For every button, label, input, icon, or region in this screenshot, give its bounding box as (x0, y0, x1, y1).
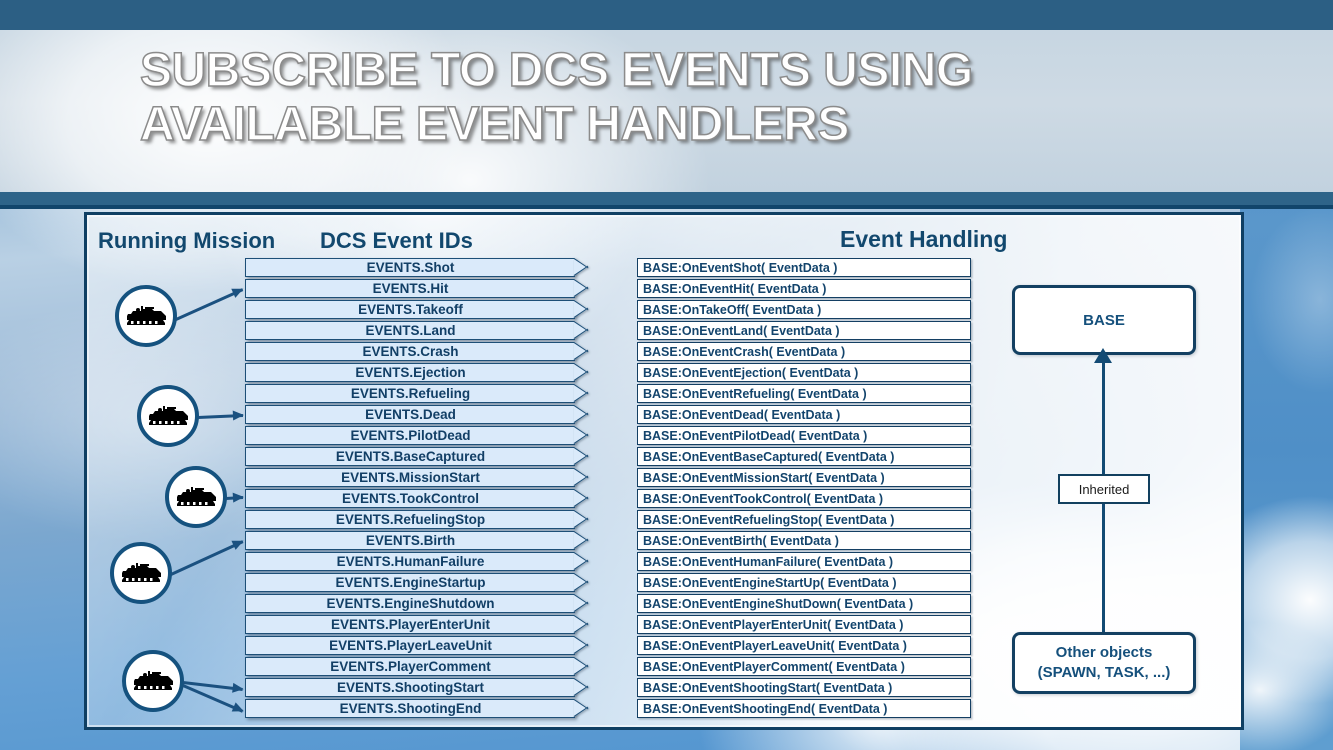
event-id-row[interactable]: EVENTS.EngineStartup (245, 573, 575, 594)
event-id-label: EVENTS.PilotDead (245, 426, 575, 445)
event-id-row[interactable]: EVENTS.Refueling (245, 384, 575, 405)
event-handler-label: BASE:OnEventPilotDead( EventData ) (637, 426, 971, 445)
event-id-label: EVENTS.HumanFailure (245, 552, 575, 571)
chevron-arrow-icon (574, 384, 588, 402)
chevron-arrow-icon (574, 447, 588, 465)
tank-icon-1[interactable] (115, 285, 177, 347)
event-handler-row[interactable]: BASE:OnEventPlayerEnterUnit( EventData ) (637, 615, 971, 636)
event-handler-label: BASE:OnEventHumanFailure( EventData ) (637, 552, 971, 571)
event-id-row[interactable]: EVENTS.ShootingStart (245, 678, 575, 699)
event-id-label: EVENTS.Hit (245, 279, 575, 298)
chevron-arrow-icon (574, 489, 588, 507)
event-handler-row[interactable]: BASE:OnEventMissionStart( EventData ) (637, 468, 971, 489)
event-handler-row[interactable]: BASE:OnEventPlayerComment( EventData ) (637, 657, 971, 678)
event-id-row[interactable]: EVENTS.PlayerLeaveUnit (245, 636, 575, 657)
event-handler-row[interactable]: BASE:OnEventShootingStart( EventData ) (637, 678, 971, 699)
event-id-label: EVENTS.Refueling (245, 384, 575, 403)
event-handler-label: BASE:OnEventPlayerEnterUnit( EventData ) (637, 615, 971, 634)
event-id-row[interactable]: EVENTS.PlayerEnterUnit (245, 615, 575, 636)
event-handler-row[interactable]: BASE:OnEventPlayerLeaveUnit( EventData ) (637, 636, 971, 657)
event-id-label: EVENTS.Birth (245, 531, 575, 550)
event-handler-row[interactable]: BASE:OnEventShootingEnd( EventData ) (637, 699, 971, 720)
chevron-arrow-icon (574, 279, 588, 297)
event-id-row[interactable]: EVENTS.Crash (245, 342, 575, 363)
event-handler-row[interactable]: BASE:OnEventBaseCaptured( EventData ) (637, 447, 971, 468)
event-id-row[interactable]: EVENTS.Birth (245, 531, 575, 552)
event-id-label: EVENTS.MissionStart (245, 468, 575, 487)
event-id-row[interactable]: EVENTS.MissionStart (245, 468, 575, 489)
event-id-list: EVENTS.ShotEVENTS.HitEVENTS.TakeoffEVENT… (245, 258, 575, 720)
chevron-arrow-icon (574, 342, 588, 360)
chevron-arrow-icon (574, 510, 588, 528)
event-id-row[interactable]: EVENTS.EngineShutdown (245, 594, 575, 615)
event-handler-row[interactable]: BASE:OnEventTookControl( EventData ) (637, 489, 971, 510)
chevron-arrow-icon (574, 573, 588, 591)
event-handler-label: BASE:OnTakeOff( EventData ) (637, 300, 971, 319)
tank-icon-3[interactable] (165, 466, 227, 528)
event-handler-row[interactable]: BASE:OnEventCrash( EventData ) (637, 342, 971, 363)
other-objects-line2: (SPAWN, TASK, ...) (1038, 663, 1171, 683)
event-id-label: EVENTS.ShootingStart (245, 678, 575, 697)
inherited-label: Inherited (1058, 474, 1150, 504)
event-id-label: EVENTS.Shot (245, 258, 575, 277)
base-class-label: BASE (1083, 312, 1125, 329)
event-handler-row[interactable]: BASE:OnEventHit( EventData ) (637, 279, 971, 300)
event-handler-label: BASE:OnEventEjection( EventData ) (637, 363, 971, 382)
event-id-row[interactable]: EVENTS.RefuelingStop (245, 510, 575, 531)
chevron-arrow-icon (574, 552, 588, 570)
event-id-label: EVENTS.TookControl (245, 489, 575, 508)
event-id-row[interactable]: EVENTS.TookControl (245, 489, 575, 510)
event-id-row[interactable]: EVENTS.Land (245, 321, 575, 342)
banner-top-bar (0, 0, 1333, 30)
event-handler-label: BASE:OnEventDead( EventData ) (637, 405, 971, 424)
event-handler-row[interactable]: BASE:OnEventRefuelingStop( EventData ) (637, 510, 971, 531)
event-handler-label: BASE:OnEventPlayerComment( EventData ) (637, 657, 971, 676)
tank-icon-5[interactable] (122, 650, 184, 712)
chevron-arrow-icon (574, 531, 588, 549)
column-header-event-handling: Event Handling (840, 226, 1007, 253)
event-id-label: EVENTS.PlayerEnterUnit (245, 615, 575, 634)
event-handler-label: BASE:OnEventShootingStart( EventData ) (637, 678, 971, 697)
event-id-label: EVENTS.Dead (245, 405, 575, 424)
page-title: SUBSCRIBE TO DCS EVENTS USING AVAILABLE … (140, 44, 1140, 152)
event-handler-label: BASE:OnEventCrash( EventData ) (637, 342, 971, 361)
event-handler-label: BASE:OnEventRefueling( EventData ) (637, 384, 971, 403)
chevron-arrow-icon (574, 699, 588, 717)
event-handler-label: BASE:OnEventShot( EventData ) (637, 258, 971, 277)
event-handler-row[interactable]: BASE:OnEventShot( EventData ) (637, 258, 971, 279)
event-handler-row[interactable]: BASE:OnEventEngineShutDown( EventData ) (637, 594, 971, 615)
event-id-label: EVENTS.RefuelingStop (245, 510, 575, 529)
event-id-label: EVENTS.Ejection (245, 363, 575, 382)
chevron-arrow-icon (574, 405, 588, 423)
event-id-row[interactable]: EVENTS.PilotDead (245, 426, 575, 447)
chevron-arrow-icon (574, 321, 588, 339)
title-banner: SUBSCRIBE TO DCS EVENTS USING AVAILABLE … (0, 30, 1333, 192)
event-id-row[interactable]: EVENTS.HumanFailure (245, 552, 575, 573)
event-id-row[interactable]: EVENTS.Shot (245, 258, 575, 279)
tank-icon-2[interactable] (137, 385, 199, 447)
column-header-running-mission: Running Mission (98, 228, 275, 254)
event-id-row[interactable]: EVENTS.PlayerComment (245, 657, 575, 678)
event-handler-label: BASE:OnEventPlayerLeaveUnit( EventData ) (637, 636, 971, 655)
event-handler-label: BASE:OnEventRefuelingStop( EventData ) (637, 510, 971, 529)
event-handler-row[interactable]: BASE:OnEventDead( EventData ) (637, 405, 971, 426)
event-id-label: EVENTS.Crash (245, 342, 575, 361)
event-handler-row[interactable]: BASE:OnEventHumanFailure( EventData ) (637, 552, 971, 573)
tank-icon-4[interactable] (110, 542, 172, 604)
event-id-label: EVENTS.BaseCaptured (245, 447, 575, 466)
event-id-row[interactable]: EVENTS.Dead (245, 405, 575, 426)
event-id-row[interactable]: EVENTS.Ejection (245, 363, 575, 384)
arrow-tank3-to-tookcontrol (226, 496, 243, 500)
other-objects-line1: Other objects (1056, 643, 1153, 663)
event-id-label: EVENTS.ShootingEnd (245, 699, 575, 718)
event-id-row[interactable]: EVENTS.BaseCaptured (245, 447, 575, 468)
event-id-row[interactable]: EVENTS.ShootingEnd (245, 699, 575, 720)
chevron-arrow-icon (574, 657, 588, 675)
event-handler-list: BASE:OnEventShot( EventData )BASE:OnEven… (637, 258, 971, 720)
other-objects-box[interactable]: Other objects (SPAWN, TASK, ...) (1012, 632, 1196, 694)
event-id-label: EVENTS.Land (245, 321, 575, 340)
event-handler-label: BASE:OnEventHit( EventData ) (637, 279, 971, 298)
event-handler-label: BASE:OnEventMissionStart( EventData ) (637, 468, 971, 487)
event-id-row[interactable]: EVENTS.Hit (245, 279, 575, 300)
event-id-label: EVENTS.EngineStartup (245, 573, 575, 592)
event-handler-row[interactable]: BASE:OnEventRefueling( EventData ) (637, 384, 971, 405)
event-handler-row[interactable]: BASE:OnEventLand( EventData ) (637, 321, 971, 342)
chevron-arrow-icon (574, 426, 588, 444)
event-id-label: EVENTS.PlayerLeaveUnit (245, 636, 575, 655)
event-handler-row[interactable]: BASE:OnEventEjection( EventData ) (637, 363, 971, 384)
chevron-arrow-icon (574, 594, 588, 612)
event-handler-row[interactable]: BASE:OnTakeOff( EventData ) (637, 300, 971, 321)
chevron-arrow-icon (574, 468, 588, 486)
event-id-row[interactable]: EVENTS.Takeoff (245, 300, 575, 321)
base-class-box[interactable]: BASE (1012, 285, 1196, 355)
event-handler-label: BASE:OnEventTookControl( EventData ) (637, 489, 971, 508)
event-id-label: EVENTS.PlayerComment (245, 657, 575, 676)
column-header-dcs-event-ids: DCS Event IDs (320, 228, 473, 254)
event-handler-label: BASE:OnEventEngineStartUp( EventData ) (637, 573, 971, 592)
event-handler-row[interactable]: BASE:OnEventBirth( EventData ) (637, 531, 971, 552)
banner-bottom-line (0, 205, 1333, 209)
event-id-label: EVENTS.Takeoff (245, 300, 575, 319)
chevron-arrow-icon (574, 258, 588, 276)
chevron-arrow-icon (574, 363, 588, 381)
chevron-arrow-icon (574, 300, 588, 318)
chevron-arrow-icon (574, 636, 588, 654)
event-handler-label: BASE:OnEventEngineShutDown( EventData ) (637, 594, 971, 613)
event-handler-label: BASE:OnEventLand( EventData ) (637, 321, 971, 340)
chevron-arrow-icon (574, 678, 588, 696)
event-handler-row[interactable]: BASE:OnEventPilotDead( EventData ) (637, 426, 971, 447)
event-id-label: EVENTS.EngineShutdown (245, 594, 575, 613)
event-handler-row[interactable]: BASE:OnEventEngineStartUp( EventData ) (637, 573, 971, 594)
event-handler-label: BASE:OnEventBirth( EventData ) (637, 531, 971, 550)
event-handler-label: BASE:OnEventBaseCaptured( EventData ) (637, 447, 971, 466)
chevron-arrow-icon (574, 615, 588, 633)
event-handler-label: BASE:OnEventShootingEnd( EventData ) (637, 699, 971, 718)
